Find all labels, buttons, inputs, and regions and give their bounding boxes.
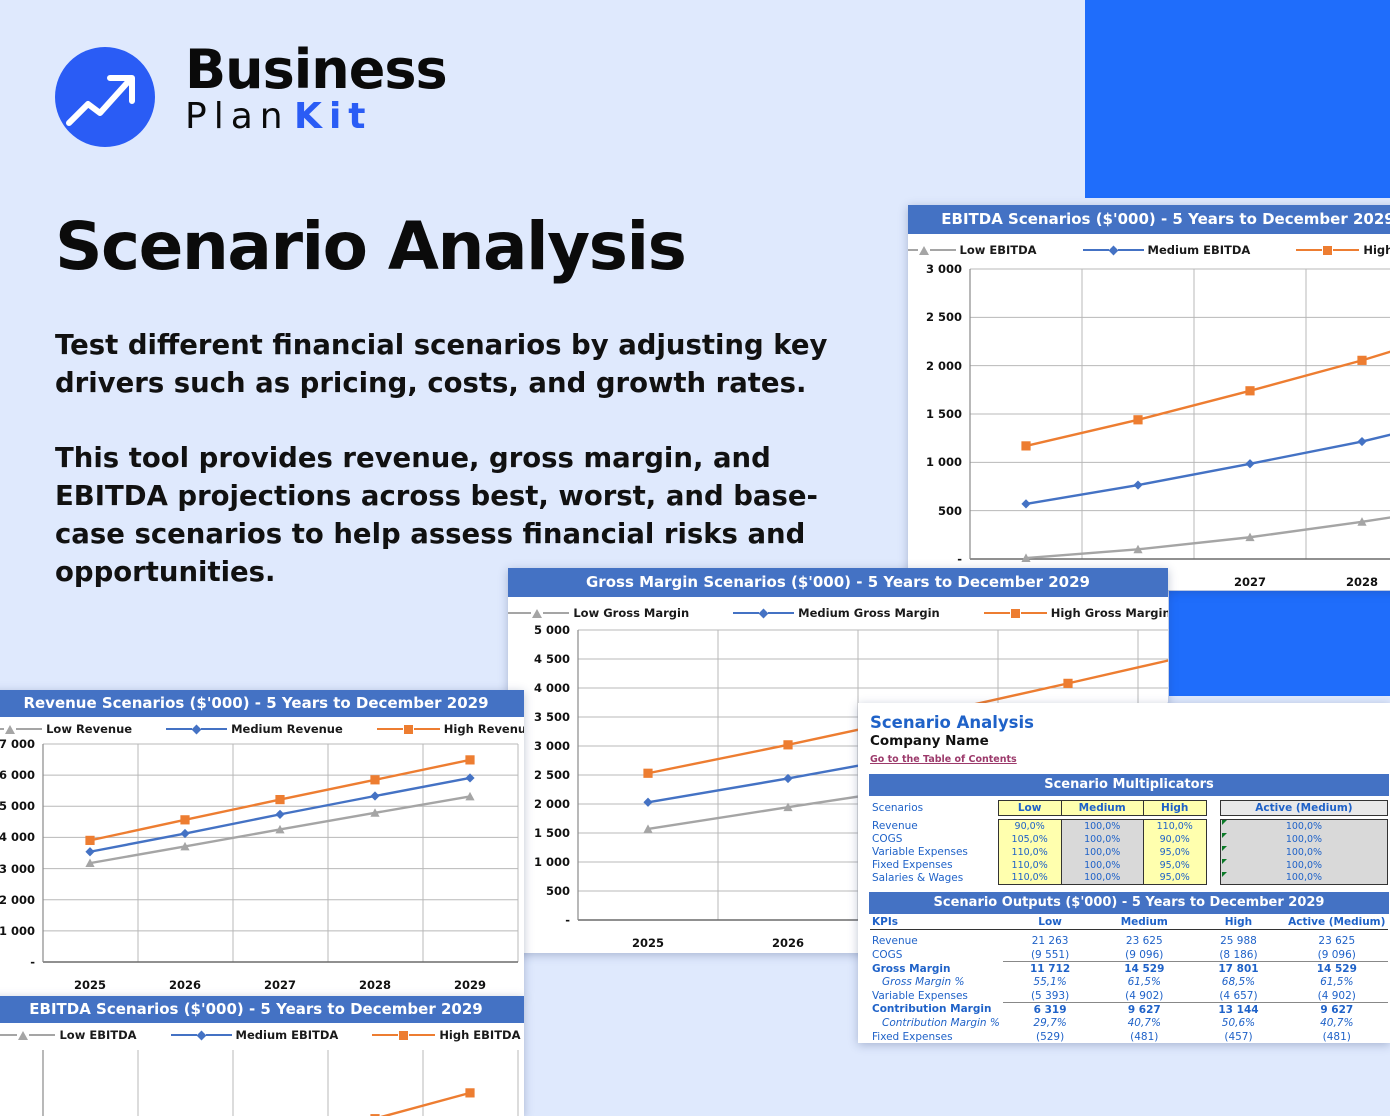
decor-blue-rect-middle	[1169, 591, 1390, 696]
legend-line-swatch	[1296, 249, 1322, 252]
cell-low: (9 551)	[1003, 948, 1097, 962]
legend-marker-diamond-icon	[192, 724, 202, 734]
column-header-active: Active (Medium)	[1286, 916, 1388, 930]
cell-medium: 23 625	[1097, 935, 1191, 949]
cell-high[interactable]: 95,0%	[1143, 859, 1206, 872]
page-title: Scenario Analysis	[55, 208, 685, 285]
y-axis-tick-label: 3 500	[534, 710, 570, 724]
cell-medium[interactable]: 100,0%	[1061, 833, 1143, 846]
cell-high: (457)	[1191, 1030, 1285, 1043]
x-axis-tick-label: 2026	[772, 936, 804, 950]
cell-high: (4 657)	[1191, 989, 1285, 1003]
legend-item: Low Revenue	[0, 722, 132, 736]
table-row: Gross Margin11 71214 52917 80114 529	[870, 962, 1388, 976]
x-axis-tick-label: 2027	[264, 978, 296, 992]
y-axis-tick-label: 2 000	[534, 797, 570, 811]
cell-low: 21 263	[1003, 935, 1097, 949]
x-axis-tick-label: 2027	[1234, 575, 1266, 589]
table-row: Contribution Margin6 3199 62713 1449 627	[870, 1003, 1388, 1017]
cell-active: 100,0%	[1220, 833, 1387, 846]
cell-medium: (481)	[1097, 1030, 1191, 1043]
chart-plot-area: -5001 0001 5002 0002 5003 00020272028	[908, 261, 1390, 590]
table-row: Gross Margin %55,1%61,5%68,5%61,5%	[870, 975, 1388, 989]
row-label: COGS	[870, 948, 1003, 962]
legend-item: Medium EBITDA	[1083, 243, 1251, 257]
cell-high[interactable]: 90,0%	[1143, 833, 1206, 846]
cell-medium[interactable]: 100,0%	[1061, 872, 1143, 885]
legend-marker-square-icon	[404, 725, 413, 734]
row-label: Salaries & Wages	[870, 872, 998, 885]
logo-text-business: Business	[185, 43, 447, 97]
column-header-low[interactable]: Low	[998, 801, 1061, 816]
y-axis-tick-label: -	[30, 955, 35, 969]
legend-marker-triangle-icon	[919, 246, 929, 255]
chart-legend: Low RevenueMedium RevenueHigh Revenue	[0, 717, 524, 738]
table-row: Variable Expenses110,0%100,0%95,0%100,0%	[870, 846, 1388, 859]
x-axis-tick-label: 2029	[454, 978, 486, 992]
y-axis-tick-label: 5 000	[534, 623, 570, 637]
legend-line-swatch	[984, 612, 1010, 615]
x-axis-tick-label: 2025	[74, 978, 106, 992]
column-header-medium: Medium	[1097, 916, 1191, 930]
legend-item: High Gross Margin	[984, 606, 1168, 620]
table-row: Revenue21 26323 62525 98823 625	[870, 935, 1388, 949]
cell-active: 9 627	[1286, 1003, 1388, 1017]
column-header-low: Low	[1003, 916, 1097, 930]
row-label: Revenue	[870, 935, 1003, 949]
spacer	[1206, 801, 1220, 816]
legend-label: Low EBITDA	[59, 1028, 136, 1042]
table-header-row: KPIsLowMediumHighActive (Medium)	[870, 916, 1388, 930]
y-axis-tick-label: 1 000	[534, 855, 570, 869]
legend-line-swatch	[409, 1034, 435, 1037]
cell-low: (5 393)	[1003, 989, 1097, 1003]
scenario-multiplicators-table: ScenariosLowMediumHighActive (Medium)Rev…	[870, 800, 1388, 885]
chart-plot-area	[0, 1044, 524, 1116]
legend-item: Medium Revenue	[166, 722, 343, 736]
cell-medium[interactable]: 100,0%	[1061, 859, 1143, 872]
legend-item: Medium EBITDA	[171, 1028, 339, 1042]
cell-low[interactable]: 110,0%	[998, 872, 1061, 885]
cell-medium: 61,5%	[1097, 975, 1191, 989]
hero-paragraph-1: Test different financial scenarios by ad…	[55, 327, 845, 403]
legend-label: Medium EBITDA	[1148, 243, 1251, 257]
logo-text-plan: Plan	[185, 96, 290, 137]
y-axis-tick-label: 1 500	[534, 826, 570, 840]
cell-active: (9 096)	[1286, 948, 1388, 962]
legend-item: High EBITDA	[372, 1028, 520, 1042]
legend-item: Low EBITDA	[908, 243, 1037, 257]
legend-label: High EBITDA	[439, 1028, 520, 1042]
brand-logo: Business Plan Kit	[55, 47, 455, 157]
y-axis-tick-label: 2 500	[926, 310, 962, 324]
legend-line-swatch	[0, 728, 4, 731]
legend-line-swatch	[171, 1034, 197, 1037]
row-label: Gross Margin %	[870, 975, 1003, 989]
legend-marker-triangle-icon	[5, 725, 15, 734]
table-of-contents-link[interactable]: Go to the Table of Contents	[870, 754, 1017, 765]
legend-label: High Revenue	[444, 722, 524, 736]
row-label: Variable Expenses	[870, 846, 998, 859]
table-header-row: ScenariosLowMediumHighActive (Medium)	[870, 801, 1388, 816]
growth-arrow-icon	[55, 47, 155, 147]
chart-title: EBITDA Scenarios ($'000) - 5 Years to De…	[0, 996, 524, 1023]
legend-line-swatch	[166, 728, 192, 731]
cell-low[interactable]: 105,0%	[998, 833, 1061, 846]
legend-label: Medium Gross Margin	[798, 606, 940, 620]
y-axis-tick-label: 1 500	[926, 407, 962, 421]
legend-line-swatch	[414, 728, 440, 731]
chart-legend: Low EBITDAMedium EBITDAHigh EBITDA	[0, 1023, 524, 1044]
cell-medium: (4 902)	[1097, 989, 1191, 1003]
table-row: Salaries & Wages110,0%100,0%95,0%100,0%	[870, 872, 1388, 885]
cell-medium: 14 529	[1097, 962, 1191, 976]
cell-high: (8 186)	[1191, 948, 1285, 962]
cell-high[interactable]: 95,0%	[1143, 872, 1206, 885]
row-label: Revenue	[870, 820, 998, 833]
cell-low[interactable]: 110,0%	[998, 859, 1061, 872]
legend-label: High EBITDA	[1363, 243, 1390, 257]
multiplicators-row-header: Scenarios	[870, 801, 998, 816]
table-row: Revenue90,0%100,0%110,0%100,0%	[870, 820, 1388, 833]
y-axis-tick-label: 2 500	[534, 768, 570, 782]
cell-high: 25 988	[1191, 935, 1285, 949]
table-row: Fixed Expenses(529)(481)(457)(481)	[870, 1030, 1388, 1043]
chart-legend: Low EBITDAMedium EBITDAHigh EBITDA	[908, 234, 1390, 261]
y-axis-tick-label: 4 500	[534, 652, 570, 666]
legend-line-swatch	[733, 612, 759, 615]
cell-high: 13 144	[1191, 1003, 1285, 1017]
cell-low: 29,7%	[1003, 1016, 1097, 1030]
x-axis-tick-label: 2026	[169, 978, 201, 992]
chart-panel-ebitda-bottom: EBITDA Scenarios ($'000) - 5 Years to De…	[0, 996, 524, 1116]
cell-active: 100,0%	[1220, 846, 1387, 859]
legend-marker-square-icon	[399, 1031, 408, 1040]
legend-line-swatch	[377, 728, 403, 731]
chart-title: Gross Margin Scenarios ($'000) - 5 Years…	[508, 568, 1168, 597]
scenario-outputs-header: Scenario Outputs ($'000) - 5 Years to De…	[869, 892, 1389, 914]
chart-panel-ebitda-top: EBITDA Scenarios ($'000) - 5 Years to De…	[908, 205, 1390, 590]
cell-active: (481)	[1286, 1030, 1388, 1043]
table-row: COGS105,0%100,0%90,0%100,0%	[870, 833, 1388, 846]
y-axis-tick-label: 1 000	[0, 924, 35, 938]
legend-label: Low EBITDA	[960, 243, 1037, 257]
cell-low: 6 319	[1003, 1003, 1097, 1017]
chart-title: EBITDA Scenarios ($'000) - 5 Years to De…	[908, 205, 1390, 234]
table-row: COGS(9 551)(9 096)(8 186)(9 096)	[870, 948, 1388, 962]
cell-low: (529)	[1003, 1030, 1097, 1043]
scenario-panel-title: Scenario Analysis	[870, 713, 1390, 732]
legend-marker-square-icon	[1323, 246, 1332, 255]
row-label: Gross Margin	[870, 962, 1003, 976]
legend-line-swatch	[1083, 249, 1109, 252]
legend-label: Low Gross Margin	[573, 606, 689, 620]
scenario-outputs-table: KPIsLowMediumHighActive (Medium)Revenue2…	[870, 916, 1388, 1043]
cell-high[interactable]: 95,0%	[1143, 846, 1206, 859]
legend-label: Low Revenue	[46, 722, 132, 736]
legend-marker-diamond-icon	[196, 1030, 206, 1040]
cell-active: 100,0%	[1220, 820, 1387, 833]
cell-high[interactable]: 110,0%	[1143, 820, 1206, 833]
cell-active: 61,5%	[1286, 975, 1388, 989]
cell-active: 23 625	[1286, 935, 1388, 949]
legend-line-swatch	[768, 612, 794, 615]
y-axis-tick-label: -	[565, 913, 570, 927]
chart-legend: Low Gross MarginMedium Gross MarginHigh …	[508, 597, 1168, 624]
column-header-medium[interactable]: Medium	[1061, 801, 1143, 816]
y-axis-tick-label: 2 000	[0, 893, 35, 907]
legend-marker-triangle-icon	[18, 1031, 28, 1040]
legend-label: Medium Revenue	[231, 722, 343, 736]
row-label: Contribution Margin	[870, 1003, 1003, 1017]
x-axis-tick-label: 2025	[632, 936, 664, 950]
company-name: Company Name	[870, 733, 1390, 749]
row-label: Contribution Margin %	[870, 1016, 1003, 1030]
cell-active: 100,0%	[1220, 859, 1387, 872]
column-header-active: Active (Medium)	[1220, 801, 1387, 816]
cell-low: 11 712	[1003, 962, 1097, 976]
legend-line-swatch	[908, 249, 918, 252]
legend-line-swatch	[0, 1034, 17, 1037]
y-axis-tick-label: 4 000	[0, 830, 35, 844]
chart-title: Revenue Scenarios ($'000) - 5 Years to D…	[0, 690, 524, 717]
y-axis-tick-label: 500	[938, 504, 962, 518]
cell-low[interactable]: 90,0%	[998, 820, 1061, 833]
y-axis-tick-label: 5 000	[0, 799, 35, 813]
legend-line-swatch	[372, 1034, 398, 1037]
legend-item: Low EBITDA	[0, 1028, 137, 1042]
legend-marker-square-icon	[1011, 609, 1020, 618]
y-axis-tick-label: -	[957, 552, 962, 566]
cell-low[interactable]: 110,0%	[998, 846, 1061, 859]
legend-line-swatch	[16, 728, 42, 731]
legend-line-swatch	[508, 612, 531, 615]
legend-label: Medium EBITDA	[236, 1028, 339, 1042]
table-row: Contribution Margin %29,7%40,7%50,6%40,7…	[870, 1016, 1388, 1030]
logo-text-kit: Kit	[294, 96, 372, 137]
scenario-multiplicators-header: Scenario Multiplicators	[869, 774, 1389, 796]
y-axis-tick-label: 500	[546, 884, 570, 898]
cell-active: 40,7%	[1286, 1016, 1388, 1030]
x-axis-tick-label: 2028	[359, 978, 391, 992]
legend-item: Medium Gross Margin	[733, 606, 940, 620]
y-axis-tick-label: 1 000	[926, 455, 962, 469]
legend-line-swatch	[543, 612, 569, 615]
chart-plot-area: -1 0002 0003 0004 0005 0006 0007 0002025…	[0, 738, 524, 996]
legend-label: High Gross Margin	[1051, 606, 1168, 620]
cell-medium[interactable]: 100,0%	[1061, 846, 1143, 859]
cell-low: 55,1%	[1003, 975, 1097, 989]
legend-line-swatch	[1118, 249, 1144, 252]
y-axis-tick-label: 3 000	[0, 862, 35, 876]
row-label: Variable Expenses	[870, 989, 1003, 1003]
y-axis-tick-label: 2 000	[926, 359, 962, 373]
row-label: COGS	[870, 833, 998, 846]
y-axis-tick-label: 3 000	[534, 739, 570, 753]
legend-line-swatch	[206, 1034, 232, 1037]
cell-high: 68,5%	[1191, 975, 1285, 989]
cell-medium: (9 096)	[1097, 948, 1191, 962]
row-label: Fixed Expenses	[870, 1030, 1003, 1043]
x-axis-tick-label: 2028	[1346, 575, 1378, 589]
cell-medium[interactable]: 100,0%	[1061, 820, 1143, 833]
legend-marker-triangle-icon	[532, 609, 542, 618]
legend-marker-diamond-icon	[1108, 245, 1118, 255]
scenario-analysis-panel: Scenario Analysis Company Name Go to the…	[858, 703, 1390, 1043]
cell-active: 100,0%	[1220, 872, 1387, 885]
legend-line-swatch	[201, 728, 227, 731]
column-header-high: High	[1191, 916, 1285, 930]
y-axis-tick-label: 3 000	[926, 262, 962, 276]
legend-item: Low Gross Margin	[508, 606, 689, 620]
kpi-row-header: KPIs	[870, 916, 1003, 930]
y-axis-tick-label: 6 000	[0, 768, 35, 782]
cell-active: (4 902)	[1286, 989, 1388, 1003]
cell-high: 50,6%	[1191, 1016, 1285, 1030]
legend-item: High Revenue	[377, 722, 524, 736]
chart-panel-revenue: Revenue Scenarios ($'000) - 5 Years to D…	[0, 690, 524, 996]
legend-item: High EBITDA	[1296, 243, 1390, 257]
cell-high: 17 801	[1191, 962, 1285, 976]
cell-medium: 40,7%	[1097, 1016, 1191, 1030]
y-axis-tick-label: 4 000	[534, 681, 570, 695]
legend-marker-diamond-icon	[759, 608, 769, 618]
column-header-high[interactable]: High	[1143, 801, 1206, 816]
cell-active: 14 529	[1286, 962, 1388, 976]
decor-blue-rect-top	[1085, 0, 1390, 198]
cell-medium: 9 627	[1097, 1003, 1191, 1017]
legend-line-swatch	[930, 249, 956, 252]
row-label: Fixed Expenses	[870, 859, 998, 872]
y-axis-tick-label: 7 000	[0, 737, 35, 751]
legend-line-swatch	[1333, 249, 1359, 252]
table-row: Variable Expenses(5 393)(4 902)(4 657)(4…	[870, 989, 1388, 1003]
legend-line-swatch	[1021, 612, 1047, 615]
table-row: Fixed Expenses110,0%100,0%95,0%100,0%	[870, 859, 1388, 872]
legend-line-swatch	[29, 1034, 55, 1037]
